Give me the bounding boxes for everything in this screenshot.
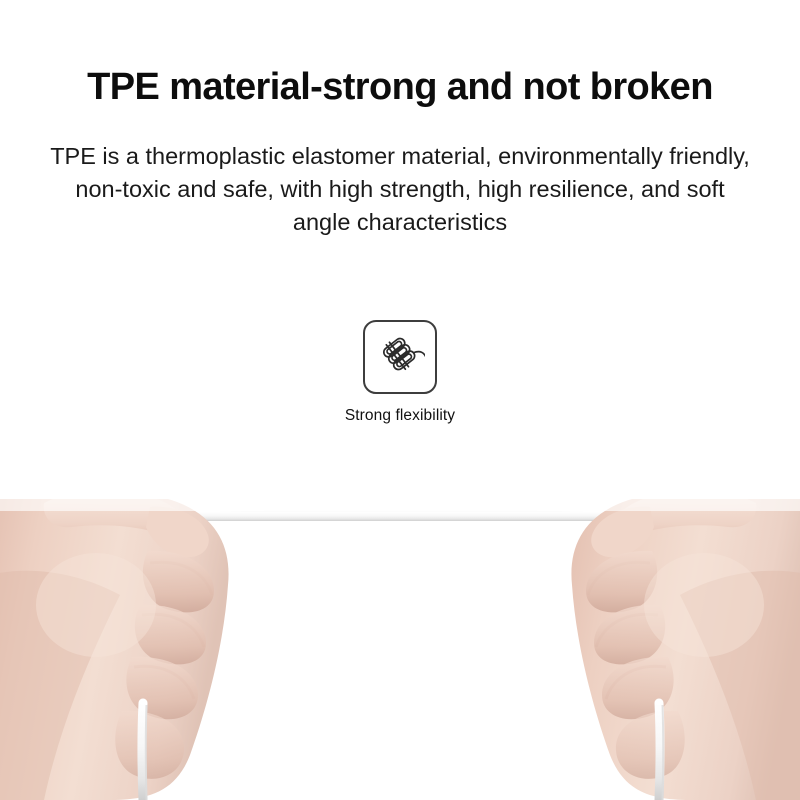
product-feature-page: TPE material-strong and not broken TPE i… <box>0 0 800 800</box>
feature-badge <box>363 320 437 394</box>
product-photo <box>0 455 800 800</box>
feature-highlight: Strong flexibility <box>0 320 800 425</box>
page-description: TPE is a thermoplastic elastomer materia… <box>50 140 750 239</box>
coiled-cable-icon <box>375 330 425 385</box>
feature-caption: Strong flexibility <box>345 407 455 425</box>
page-title: TPE material-strong and not broken <box>0 64 800 110</box>
